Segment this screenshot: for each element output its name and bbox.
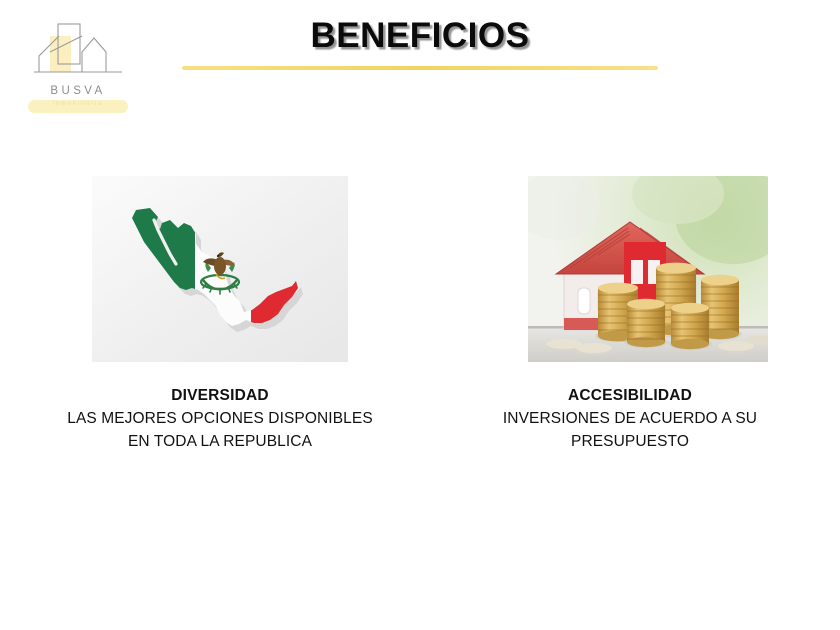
benefit-card-diversidad: DIVERSIDAD LAS MEJORES OPCIONES DISPONIB…: [20, 176, 420, 453]
benefit-description-line-1: INVERSIONES DE ACUERDO A SU: [440, 407, 820, 430]
page-title: BENEFICIOS: [180, 16, 660, 56]
building-outline-icon: [26, 22, 130, 88]
benefit-description-line-2: EN TODA LA REPUBLICA: [20, 430, 420, 453]
mexico-map-flag-image: [92, 176, 348, 362]
benefit-description-line-1: LAS MEJORES OPCIONES DISPONIBLES: [20, 407, 420, 430]
brand-logo: BUSVA inmobiliaria: [26, 22, 130, 120]
benefit-caption-diversidad: DIVERSIDAD LAS MEJORES OPCIONES DISPONIB…: [20, 384, 420, 453]
house-coins-image: [528, 176, 768, 362]
benefit-caption-accesibilidad: ACCESIBILIDAD INVERSIONES DE ACUERDO A S…: [440, 384, 820, 453]
benefit-card-accesibilidad: ACCESIBILIDAD INVERSIONES DE ACUERDO A S…: [440, 176, 820, 453]
slide-canvas: BUSVA inmobiliaria BENEFICIOS: [0, 0, 840, 630]
logo-subtitle: inmobiliaria: [28, 101, 128, 107]
logo-wordmark: BUSVA: [26, 85, 130, 97]
benefit-title: ACCESIBILIDAD: [440, 384, 820, 407]
benefit-title: DIVERSIDAD: [20, 384, 420, 407]
logo-subtitle-band: inmobiliaria: [28, 100, 128, 113]
benefit-description-line-2: PRESUPUESTO: [440, 430, 820, 453]
title-underline-rule: [182, 66, 658, 70]
